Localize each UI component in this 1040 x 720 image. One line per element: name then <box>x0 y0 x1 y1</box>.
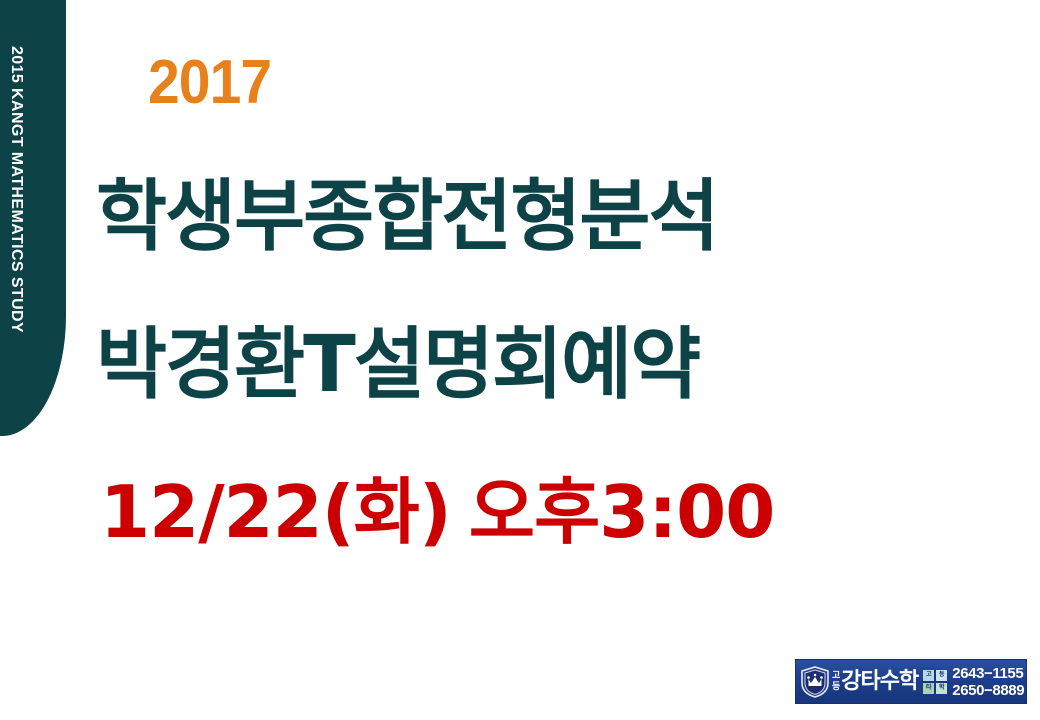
logo-prefix-line-2: 등 <box>832 682 840 693</box>
year-label: 2017 <box>148 52 271 114</box>
sidebar-band: 2015 KANGT MATHEMATICS STUDY <box>0 0 66 436</box>
school-crest-icon <box>800 666 830 698</box>
sidebar-vertical-label: 2015 KANGT MATHEMATICS STUDY <box>7 46 25 333</box>
event-date: 12/22(화) <box>100 470 451 554</box>
qr-grid-icon: 고 등 타 학 <box>923 670 947 694</box>
qr-cell-3: 타 <box>923 683 934 694</box>
event-time: 오후3:00 <box>469 470 775 554</box>
logo-prefix: 고 등 <box>832 671 840 693</box>
logo-prefix-line-1: 고 <box>832 671 840 682</box>
qr-cell-1: 고 <box>923 670 934 681</box>
qr-cell-4: 학 <box>936 683 947 694</box>
event-datetime: 12/22(화)오후3:00 <box>100 476 774 548</box>
headline-line-2: 박경환T설명회예약 <box>96 326 699 404</box>
poster-canvas: 2015 KANGT MATHEMATICS STUDY 2017 학생부종합전… <box>0 0 1040 720</box>
academy-logo-bar: 고 등 강타수학 고 등 타 학 2643−1155 2650−8889 <box>795 659 1027 704</box>
phone-number-2: 2650−8889 <box>952 682 1024 699</box>
headline-line-1: 학생부종합전형분석 <box>96 178 718 256</box>
logo-academy-name: 강타수학 <box>841 670 918 694</box>
qr-cell-2: 등 <box>936 670 947 681</box>
logo-phone-numbers: 2643−1155 2650−8889 <box>952 665 1024 699</box>
phone-number-1: 2643−1155 <box>952 665 1024 682</box>
